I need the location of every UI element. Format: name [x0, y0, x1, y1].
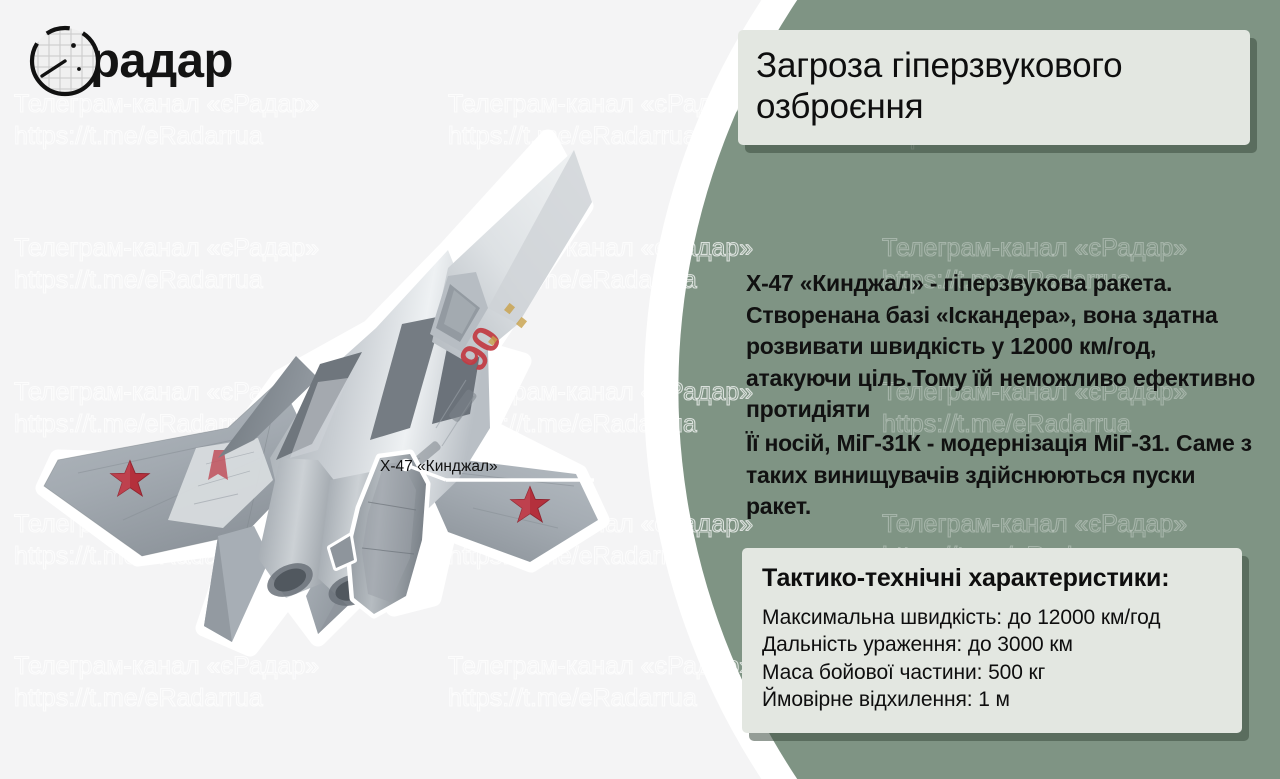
infographic-canvas: Телеграм-канал «єРадар» https://t.me/eRa…: [0, 0, 1280, 779]
body-paragraph-1: Х-47 «Кинджал» - гіперзвукова ракета. Ст…: [746, 268, 1262, 426]
brand-logo-text: радар: [90, 37, 233, 86]
brand-logo[interactable]: радар: [26, 22, 233, 100]
callout-label: Х-47 «Кинджал»: [380, 458, 498, 476]
specs-line: Ймовірне відхилення: 1 м: [762, 686, 1224, 713]
body-paragraph-2: Її носій, МіГ-31К - модернізація МіГ-31.…: [746, 428, 1262, 523]
title-card: Загроза гіперзвукового озброєння: [738, 30, 1250, 145]
specs-line: Максимальна швидкість: до 12000 км/год: [762, 604, 1224, 631]
specs-line: Маса бойової частини: 500 кг: [762, 659, 1224, 686]
specs-card: Тактико-технічні характеристики: Максима…: [742, 548, 1242, 733]
mig-31k-fighter-jet: 90: [18, 128, 638, 673]
page-title: Загроза гіперзвукового озброєння: [756, 46, 1232, 127]
specs-heading: Тактико-технічні характеристики:: [762, 564, 1224, 593]
specs-line: Дальність ураження: до 3000 км: [762, 631, 1224, 658]
radar-circle-icon: [26, 22, 104, 100]
